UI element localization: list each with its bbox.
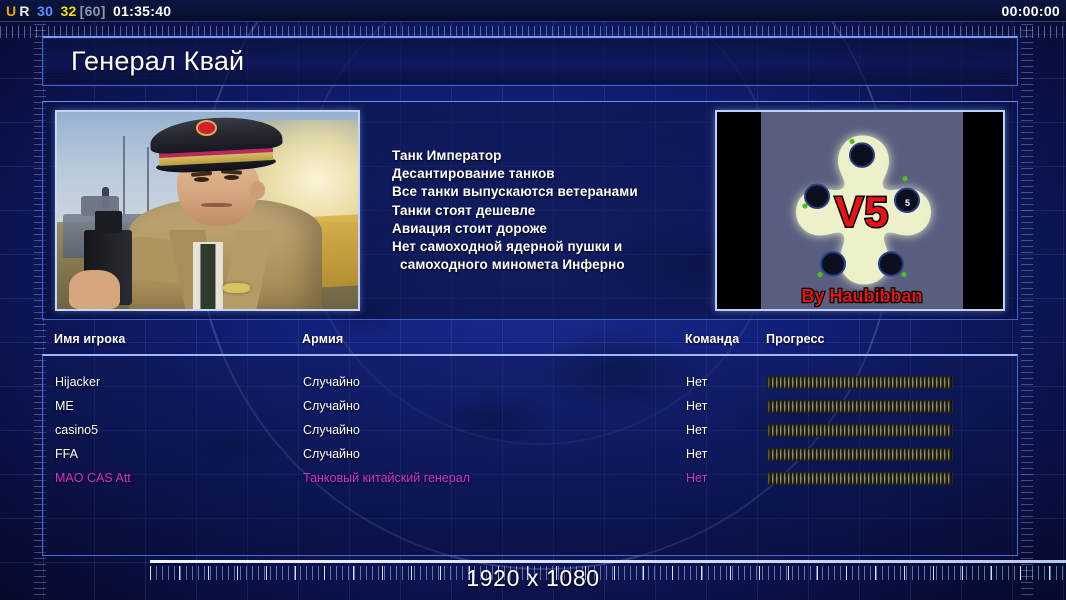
table-row[interactable]: casino5 Случайно Нет [43, 422, 1017, 446]
general-abilities-list: Танк Император Десантирование танков Все… [392, 147, 638, 274]
stat-elapsed-time: 01:35:40 [113, 3, 171, 19]
page-title: Генерал Квай [43, 46, 244, 77]
map-preview-image: 5 V5 By Haubibban [761, 112, 963, 309]
cell-army: Танковый китайский генерал [303, 470, 470, 486]
general-portrait-image [57, 112, 358, 309]
cell-army: Случайно [303, 374, 360, 390]
ability-line: Десантирование танков [392, 165, 638, 183]
cell-army: Случайно [303, 422, 360, 438]
table-row[interactable]: FFA Случайно Нет [43, 446, 1017, 470]
hud-top-bar: UR 30 32[60] 01:35:40 00:00:00 [0, 0, 1066, 22]
general-portrait-frame [55, 110, 360, 311]
cell-player-name: casino5 [55, 422, 98, 438]
ability-line: Авиация стоит дороже [392, 220, 638, 238]
cell-team: Нет [686, 422, 707, 438]
column-header-team: Команда [685, 332, 739, 346]
general-necktie [200, 244, 215, 309]
cell-player-name: ME [55, 398, 74, 414]
general-hand [69, 270, 120, 309]
stat-value-blue: 30 [37, 3, 53, 19]
cell-progress-bar [767, 472, 953, 485]
general-title-panel: Генерал Квай [42, 36, 1018, 86]
stat-value-bracket: [60] [80, 3, 106, 19]
cell-player-name: Hijacker [55, 374, 100, 390]
cell-progress-bar [767, 424, 953, 437]
column-header-name: Имя игрока [54, 332, 125, 346]
map-start-position-marker: 5 [900, 195, 915, 210]
general-ear [250, 181, 265, 199]
map-version-tag: V5 [835, 188, 890, 237]
table-row[interactable]: ME Случайно Нет [43, 398, 1017, 422]
column-header-progress: Прогресс [766, 332, 825, 346]
lobby-frame: Генерал Квай [42, 36, 1018, 556]
network-stats: UR 30 32[60] 01:35:40 [6, 3, 174, 19]
general-abilities-panel: Танк Император Десантирование танков Все… [360, 102, 715, 319]
ruler-right [1021, 0, 1033, 600]
match-timer: 00:00:00 [1002, 3, 1060, 19]
cell-army: Случайно [303, 398, 360, 414]
table-row[interactable]: Hijacker Случайно Нет [43, 374, 1017, 398]
cell-progress-bar [767, 448, 953, 461]
player-table-panel: Hijacker Случайно Нет ME Случайно Нет ca… [42, 354, 1018, 556]
player-table-header: Имя игрока Армия Команда Прогресс [42, 332, 1018, 352]
map-author-credit: By Haubibban [801, 286, 922, 307]
cell-player-name: FFA [55, 446, 78, 462]
resolution-label: 1920 x 1080 [0, 565, 1066, 592]
portrait-antenna-left [123, 136, 125, 219]
footer-divider [150, 560, 1066, 563]
portrait-antenna-right [147, 147, 149, 218]
cell-team: Нет [686, 470, 707, 486]
ability-line: Танк Император [392, 147, 638, 165]
cell-player-name: MAO CAS Att [55, 470, 131, 486]
table-row[interactable]: MAO CAS Att Танковый китайский генерал Н… [43, 470, 1017, 494]
cell-army: Случайно [303, 446, 360, 462]
cell-team: Нет [686, 374, 707, 390]
game-lobby-screen: UR 30 32[60] 01:35:40 00:00:00 Генерал К… [0, 0, 1066, 600]
ability-line: самоходного миномета Инферно [392, 256, 638, 274]
general-eye-left [194, 177, 209, 182]
stat-value-yellow: 32 [60, 3, 76, 19]
cell-progress-bar [767, 400, 953, 413]
ability-line: Танки стоят дешевле [392, 202, 638, 220]
cell-progress-bar [767, 376, 953, 389]
column-header-army: Армия [302, 332, 343, 346]
ability-line: Все танки выпускаются ветеранами [392, 183, 638, 201]
cell-team: Нет [686, 446, 707, 462]
general-info-row: Танк Император Десантирование танков Все… [42, 101, 1018, 320]
map-preview-frame[interactable]: 5 V5 By Haubibban [715, 110, 1005, 311]
stat-r-label: R [19, 3, 29, 19]
ability-line: Нет самоходной ядерной пушки и [392, 238, 638, 256]
cell-team: Нет [686, 398, 707, 414]
general-eye-right [224, 175, 239, 180]
general-cap-star-emblem [198, 122, 215, 134]
general-mouth [201, 203, 231, 207]
stat-u-label: U [6, 3, 16, 19]
general-chest-badge [223, 283, 250, 293]
